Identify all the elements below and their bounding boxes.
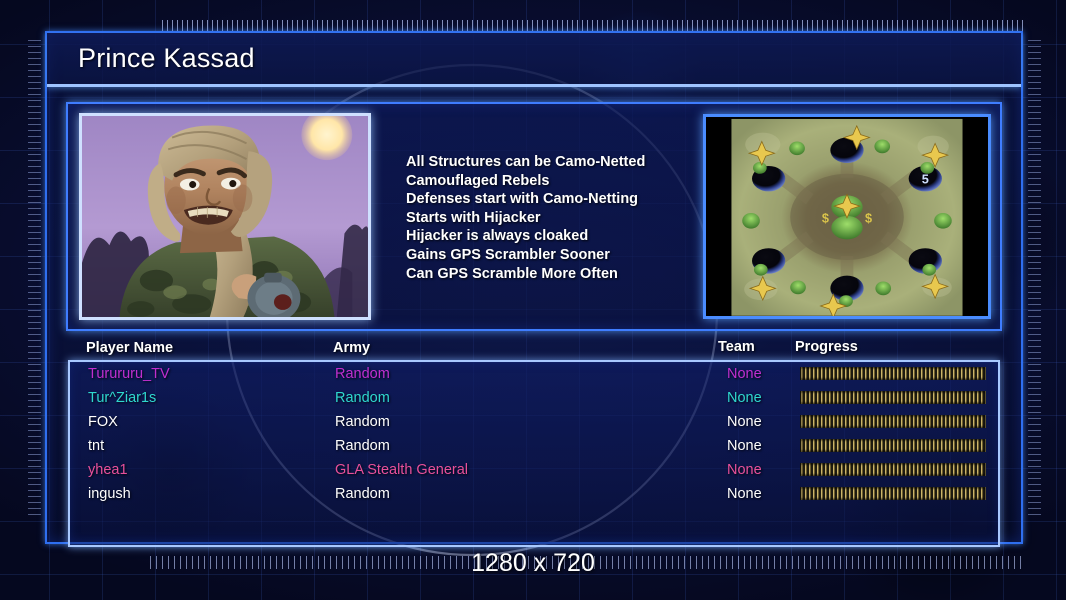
player-army-cell[interactable]: Random: [335, 438, 390, 454]
map-preview-image: 5 $ $: [706, 117, 988, 318]
player-army-cell[interactable]: Random: [335, 390, 390, 406]
player-team-cell[interactable]: None: [727, 486, 762, 502]
player-rows: Turururu_TVRandomNoneTur^Ziar1sRandomNon…: [70, 362, 998, 506]
player-name-cell: Tur^Ziar1s: [88, 390, 156, 406]
player-name-cell: yhea1: [88, 462, 128, 478]
bonus-line: Camouflaged Rebels: [406, 172, 706, 191]
player-progress-cell: [800, 391, 986, 404]
bonus-line: Can GPS Scramble More Often: [406, 265, 706, 284]
table-row[interactable]: FOXRandomNone: [70, 410, 998, 434]
svg-text:$: $: [865, 211, 872, 226]
player-army-cell[interactable]: Random: [335, 486, 390, 502]
bonus-line: Starts with Hijacker: [406, 209, 706, 228]
portrait-artwork: [82, 116, 368, 319]
game-lobby-screen: Prince Kassad: [0, 0, 1066, 600]
map-start-position-label: 5: [922, 172, 929, 187]
progress-bar: [800, 415, 986, 428]
bonus-line: Gains GPS Scrambler Sooner: [406, 246, 706, 265]
player-list-panel: Turururu_TVRandomNoneTur^Ziar1sRandomNon…: [68, 360, 1000, 547]
player-team-cell[interactable]: None: [727, 462, 762, 478]
player-army-cell[interactable]: Random: [335, 414, 390, 430]
column-header-army: Army: [333, 340, 370, 356]
column-header-team: Team: [718, 339, 755, 355]
player-name-cell: Turururu_TV: [88, 366, 170, 382]
map-preview[interactable]: 5 $ $: [703, 114, 991, 319]
player-name-cell: ingush: [88, 486, 131, 502]
player-army-cell[interactable]: GLA Stealth General: [335, 462, 468, 478]
progress-bar: [800, 463, 986, 476]
progress-bar: [800, 391, 986, 404]
ruler-right: [1028, 40, 1041, 518]
progress-bar: [800, 439, 986, 452]
progress-bar: [800, 367, 986, 380]
table-row[interactable]: ingushRandomNone: [70, 482, 998, 506]
table-row[interactable]: Tur^Ziar1sRandomNone: [70, 386, 998, 410]
resolution-caption: 1280 x 720: [0, 549, 1066, 578]
player-team-cell[interactable]: None: [727, 390, 762, 406]
table-row[interactable]: tntRandomNone: [70, 434, 998, 458]
bonus-line: Defenses start with Camo-Netting: [406, 190, 706, 209]
player-name-cell: tnt: [88, 438, 104, 454]
bonus-line: All Structures can be Camo-Netted: [406, 153, 706, 172]
title-bar: Prince Kassad: [47, 33, 1021, 87]
table-row[interactable]: yhea1GLA Stealth GeneralNone: [70, 458, 998, 482]
page-title: Prince Kassad: [78, 43, 255, 74]
svg-text:$: $: [822, 211, 829, 226]
player-army-cell[interactable]: Random: [335, 366, 390, 382]
player-progress-cell: [800, 439, 986, 452]
column-header-player-name: Player Name: [86, 340, 173, 356]
player-progress-cell: [800, 415, 986, 428]
table-row[interactable]: Turururu_TVRandomNone: [70, 362, 998, 386]
player-team-cell[interactable]: None: [727, 438, 762, 454]
ruler-left: [28, 40, 41, 518]
player-team-cell[interactable]: None: [727, 414, 762, 430]
player-team-cell[interactable]: None: [727, 366, 762, 382]
general-portrait: [79, 113, 371, 320]
player-name-cell: FOX: [88, 414, 118, 430]
progress-bar: [800, 487, 986, 500]
bonus-line: Hijacker is always cloaked: [406, 227, 706, 246]
general-bonus-list: All Structures can be Camo-Netted Camouf…: [406, 153, 706, 283]
player-progress-cell: [800, 463, 986, 476]
player-progress-cell: [800, 367, 986, 380]
player-progress-cell: [800, 487, 986, 500]
column-header-progress: Progress: [795, 339, 858, 355]
